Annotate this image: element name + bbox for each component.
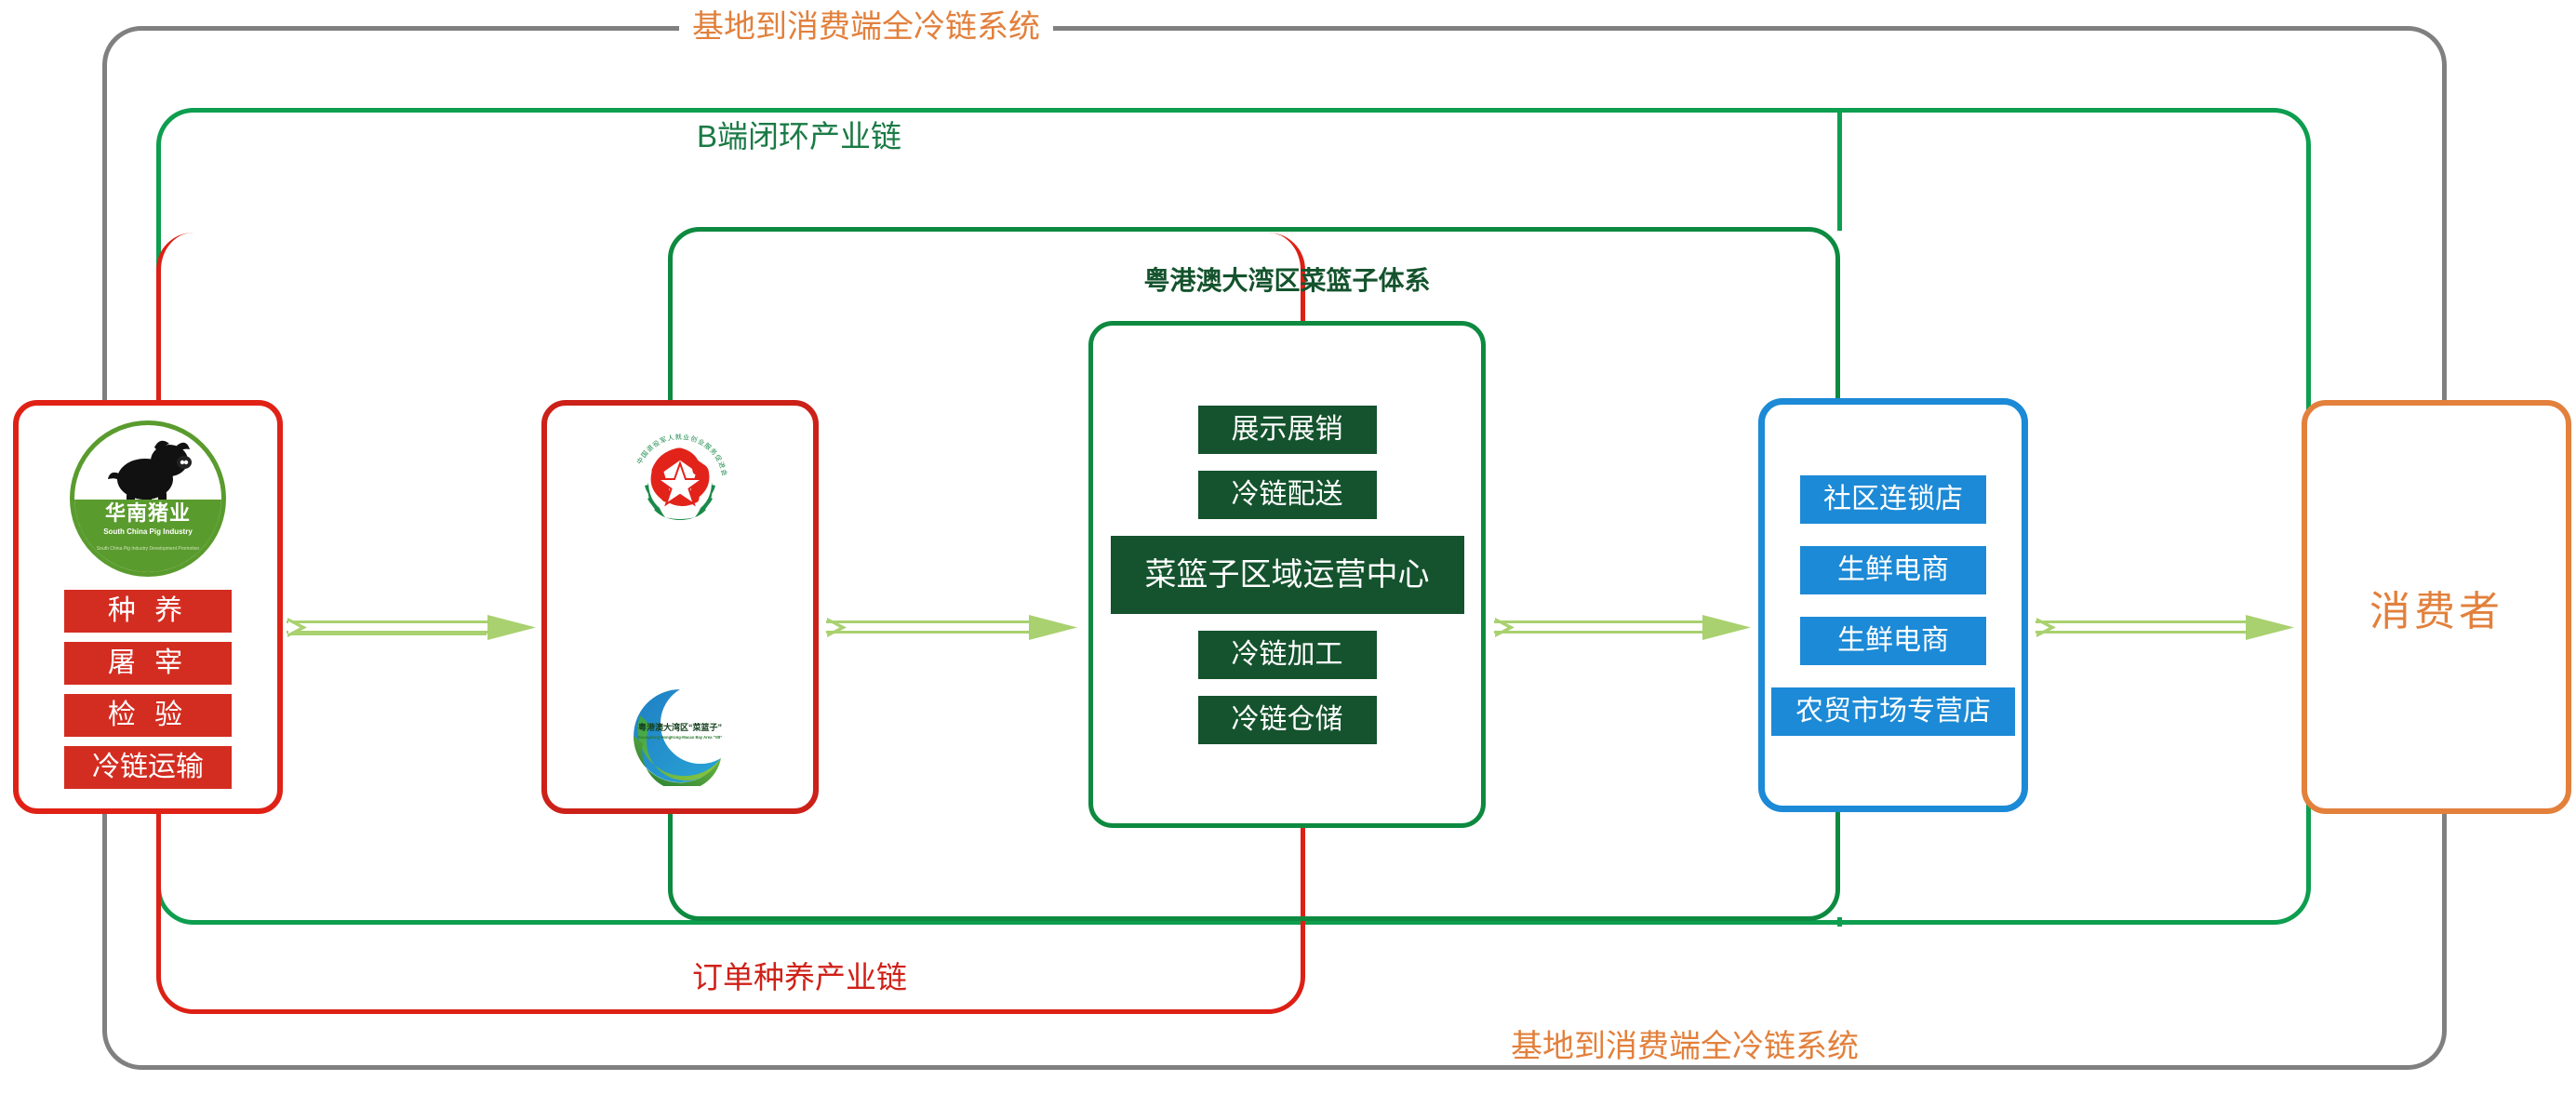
arrow-retail-to-consumer — [2035, 612, 2296, 644]
stage-certification[interactable]: 中 国 退 役 军 人 就 业 创 业 服 务 促 进 会 — [541, 400, 819, 814]
south-china-pig-industry-logo: 华南猪业 South China Pig Industry South Chin… — [70, 420, 226, 577]
pig-logo-name-en: South China Pig Industry — [103, 527, 193, 537]
basket-system-title: 粤港澳大湾区菜篮子体系 — [1088, 260, 1486, 298]
pig-logo-band: 华南猪业 South China Pig Industry South Chin… — [74, 500, 221, 572]
connector-b-chain-right — [1837, 108, 1842, 231]
pig-logo-name-cn: 华南猪业 — [105, 503, 191, 524]
stage-basket-system[interactable]: 展示展销 冷链配送 菜篮子区域运营中心 冷链加工 冷链仓储 — [1088, 321, 1486, 828]
diagram-canvas: 基地到消费端全冷链系统 B端闭环产业链 订单种养产业链 基地到消费端全冷链系统 — [0, 0, 2576, 1094]
svg-text:人: 人 — [667, 434, 675, 442]
chip-retail-3[interactable]: 农贸市场专营店 — [1771, 687, 2015, 736]
chip-basket-2[interactable]: 菜篮子区域运营中心 — [1111, 536, 1464, 614]
label-order-chain: 订单种养产业链 — [679, 962, 920, 993]
svg-text:会: 会 — [719, 469, 728, 477]
arrow-basket-to-retail — [1494, 612, 1753, 644]
chip-basket-4[interactable]: 冷链仓储 — [1198, 696, 1377, 744]
chip-production-3[interactable]: 冷链运输 — [64, 746, 232, 789]
label-b-chain: B端闭环产业链 — [684, 121, 914, 152]
chip-production-2[interactable]: 检 验 — [64, 694, 232, 737]
chip-retail-1[interactable]: 生鲜电商 — [1800, 546, 1986, 594]
connector-b-chain-right-bottom — [1837, 917, 1842, 927]
gba-logo-text-cn: 粤港澳大湾区“菜篮子” — [638, 722, 722, 732]
arrow-production-to-certification — [287, 612, 538, 644]
chip-basket-0[interactable]: 展示展销 — [1198, 406, 1377, 454]
greater-bay-area-vegetable-basket-logo-icon: 粤港澳大湾区“菜篮子” Guangdong-HongKong-Macao Bay… — [621, 682, 739, 786]
svg-text:就: 就 — [675, 433, 682, 441]
svg-text:业: 业 — [683, 433, 690, 442]
chip-basket-1[interactable]: 冷链配送 — [1198, 471, 1377, 519]
arrow-certification-to-basket — [826, 612, 1079, 644]
chip-production-0[interactable]: 种 养 — [64, 590, 232, 633]
consumer-label: 消费者 — [2369, 578, 2503, 637]
stage-retail-channels[interactable]: 社区连锁店 生鲜电商 生鲜电商 农贸市场专营店 — [1758, 398, 2028, 812]
chip-basket-3[interactable]: 冷链加工 — [1198, 631, 1377, 679]
pig-logo-name-en2: South China Pig Industry Development Pro… — [97, 546, 199, 553]
label-outer-top: 基地到消费端全冷链系统 — [679, 11, 1053, 43]
veterans-association-emblem-icon: 中 国 退 役 军 人 就 业 创 业 服 务 促 进 会 — [617, 426, 743, 540]
gba-logo-text-en: Guangdong-HongKong-Macao Bay Area "VB" — [638, 735, 723, 740]
stage-consumer[interactable]: 消费者 — [2302, 400, 2571, 814]
chip-retail-0[interactable]: 社区连锁店 — [1800, 475, 1986, 524]
chip-production-1[interactable]: 屠 宰 — [64, 642, 232, 685]
stage-production[interactable]: 华南猪业 South China Pig Industry South Chin… — [13, 400, 283, 814]
chip-retail-2[interactable]: 生鲜电商 — [1800, 617, 1986, 665]
label-outer-bottom: 基地到消费端全冷链系统 — [1498, 1031, 1872, 1062]
